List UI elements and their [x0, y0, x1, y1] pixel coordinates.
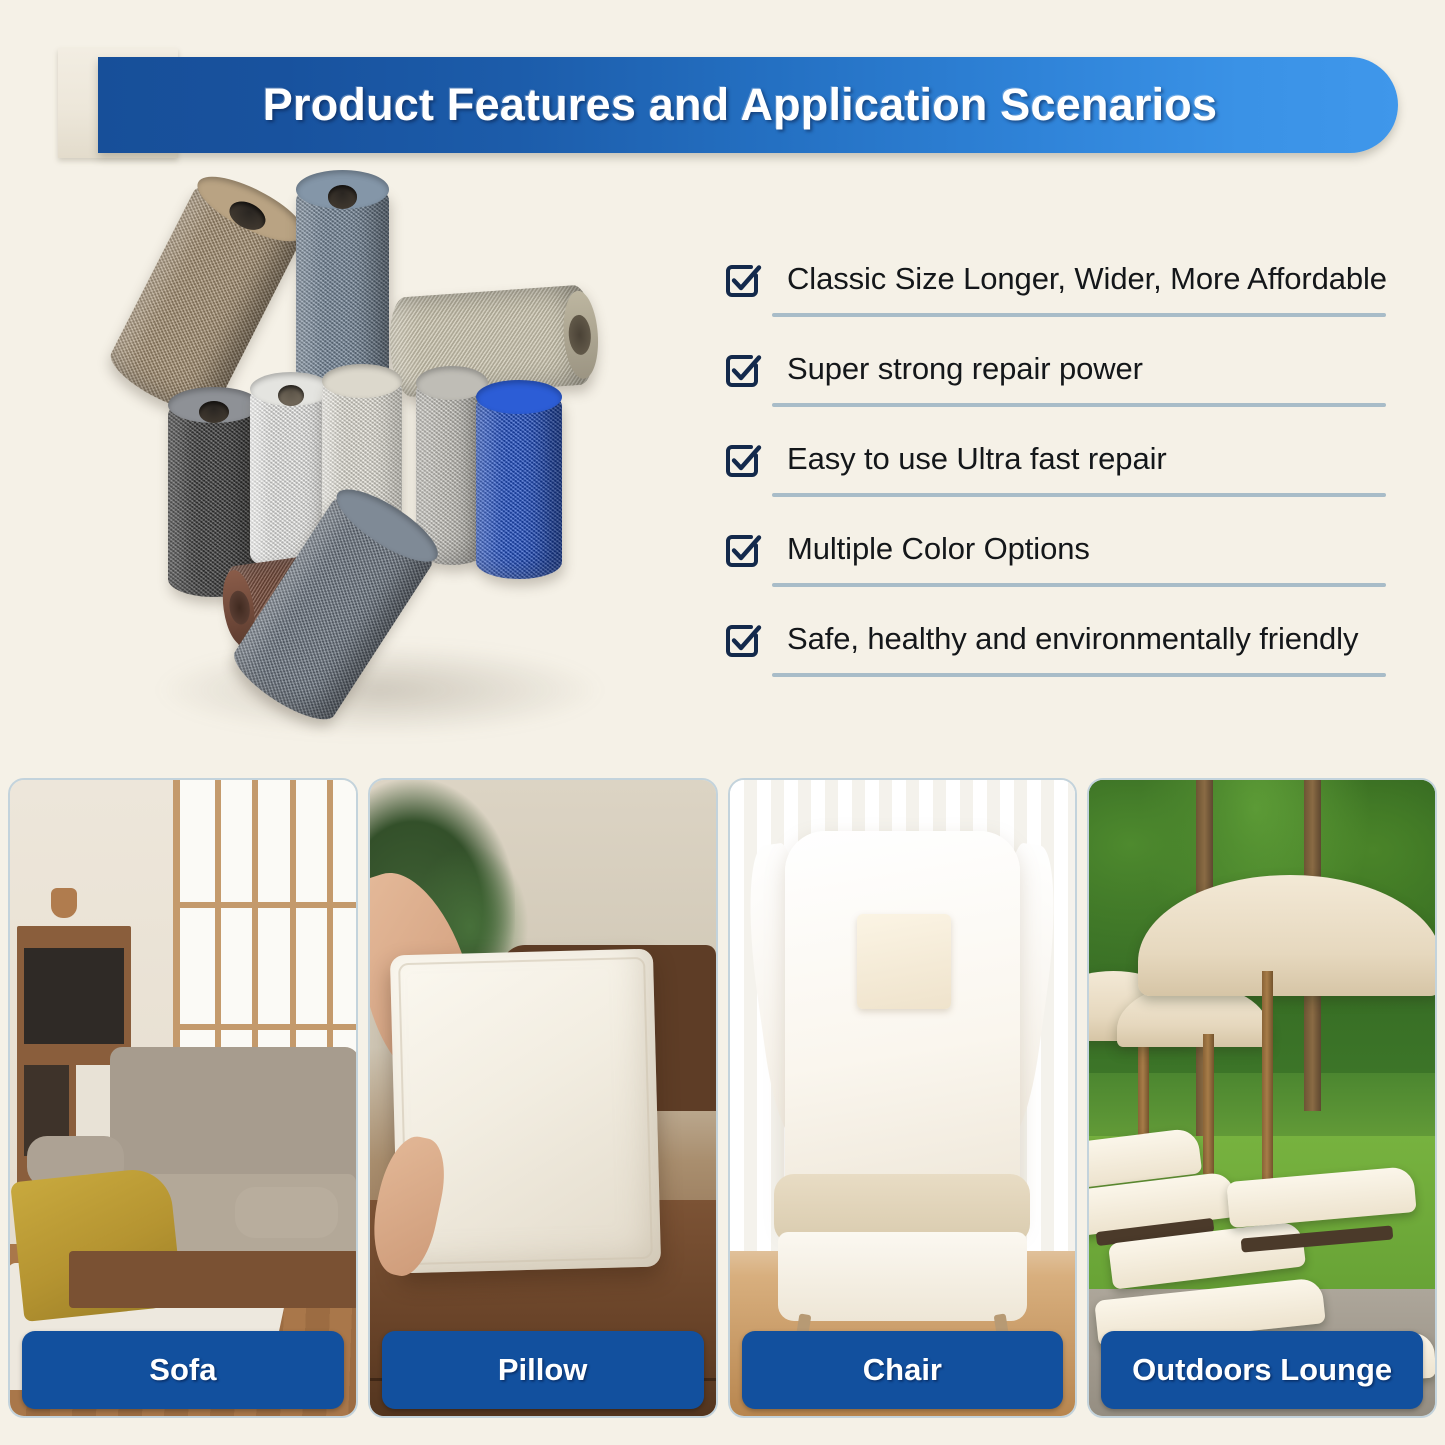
scenario-label-chair: Chair [742, 1331, 1064, 1409]
feature-list: Classic Size Longer, Wider, More Afforda… [716, 250, 1391, 700]
scene-image-chair [730, 780, 1076, 1416]
feature-underline [772, 403, 1386, 407]
scene-image-sofa [10, 780, 356, 1416]
feature-underline [772, 673, 1386, 677]
scenario-label-text: Sofa [149, 1352, 216, 1388]
tape-roll-blue-grey [296, 181, 389, 396]
page-header: Product Features and Application Scenari… [0, 46, 1445, 166]
scene-image-outdoor-lounge [1089, 780, 1435, 1416]
feature-item: Multiple Color Options [716, 520, 1391, 610]
feature-underline [772, 313, 1386, 317]
application-scenario-cards: Sofa Pillow [0, 778, 1445, 1418]
scene-image-pillow [370, 780, 716, 1416]
scenario-label-sofa: Sofa [22, 1331, 344, 1409]
scenario-card-sofa[interactable]: Sofa [8, 778, 358, 1418]
scenario-card-pillow[interactable]: Pillow [368, 778, 718, 1418]
product-shadow [160, 645, 600, 735]
scenario-card-outdoors-lounge[interactable]: Outdoors Lounge [1087, 778, 1437, 1418]
checkbox-check-icon [720, 528, 764, 572]
feature-label: Safe, healthy and environmentally friend… [787, 610, 1358, 668]
feature-label: Easy to use Ultra fast repair [787, 430, 1167, 488]
feature-item: Easy to use Ultra fast repair [716, 430, 1391, 520]
scenario-card-chair[interactable]: Chair [728, 778, 1078, 1418]
scenario-label-outdoors-lounge: Outdoors Lounge [1101, 1331, 1423, 1409]
feature-item: Classic Size Longer, Wider, More Afforda… [716, 250, 1391, 340]
scenario-label-text: Outdoors Lounge [1132, 1352, 1392, 1388]
tape-roll-royal-blue [476, 389, 562, 579]
scenario-label-text: Pillow [498, 1352, 588, 1388]
scenario-label-text: Chair [863, 1352, 942, 1388]
checkbox-check-icon [720, 258, 764, 302]
feature-label: Multiple Color Options [787, 520, 1090, 578]
feature-label: Classic Size Longer, Wider, More Afforda… [787, 250, 1387, 308]
scenario-label-pillow: Pillow [382, 1331, 704, 1409]
header-banner: Product Features and Application Scenari… [98, 57, 1398, 153]
checkbox-check-icon [720, 438, 764, 482]
feature-underline [772, 583, 1386, 587]
page-title: Product Features and Application Scenari… [263, 79, 1217, 131]
product-image-fabric-tape-rolls [140, 175, 640, 735]
feature-underline [772, 493, 1386, 497]
checkbox-check-icon [720, 618, 764, 662]
checkbox-check-icon [720, 348, 764, 392]
feature-item: Safe, healthy and environmentally friend… [716, 610, 1391, 700]
feature-label: Super strong repair power [787, 340, 1143, 398]
feature-item: Super strong repair power [716, 340, 1391, 430]
